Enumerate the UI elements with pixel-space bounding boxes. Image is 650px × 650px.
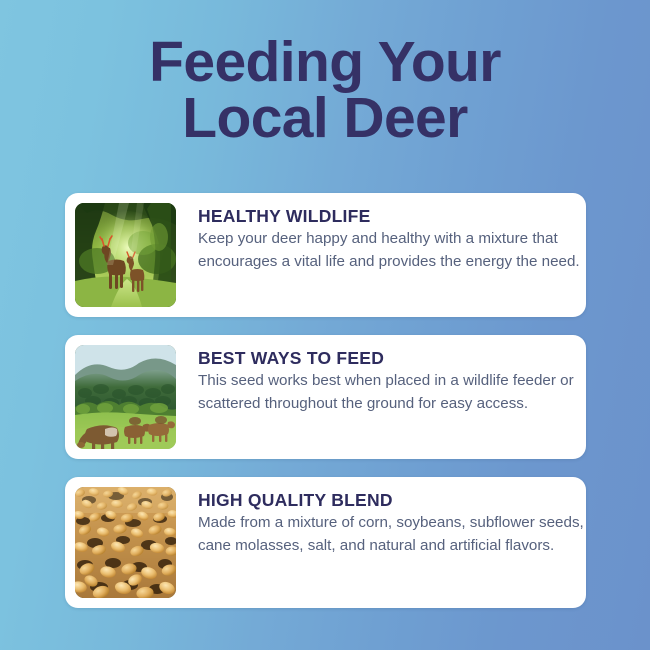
feature-card: HIGH QUALITY BLEND Made from a mixture o…: [65, 477, 586, 608]
page-title-line-1: Feeding Your: [45, 34, 605, 90]
feature-card-body: HIGH QUALITY BLEND Made from a mixture o…: [176, 487, 596, 557]
feature-card: BEST WAYS TO FEED This seed works best w…: [65, 335, 586, 459]
feature-card-heading: HIGH QUALITY BLEND: [198, 490, 596, 510]
page-title-line-2: Local Deer: [45, 90, 605, 146]
grain-seed-blend-photo: [75, 487, 176, 598]
deer-in-sunlit-forest-photo: [75, 203, 176, 307]
poster-root: Feeding Your Local Deer: [0, 0, 650, 650]
feature-card-body: HEALTHY WILDLIFE Keep your deer happy an…: [176, 203, 596, 273]
feature-card-list: HEALTHY WILDLIFE Keep your deer happy an…: [65, 193, 586, 608]
deer-grazing-meadow-photo: [75, 345, 176, 449]
feature-card-heading: BEST WAYS TO FEED: [198, 348, 596, 368]
feature-card-text: Keep your deer happy and healthy with a …: [198, 227, 606, 273]
feature-card-text: This seed works best when placed in a wi…: [198, 369, 598, 415]
feature-card: HEALTHY WILDLIFE Keep your deer happy an…: [65, 193, 586, 317]
feature-card-text: Made from a mixture of corn, soybeans, s…: [198, 511, 598, 557]
feature-card-body: BEST WAYS TO FEED This seed works best w…: [176, 345, 596, 415]
page-title: Feeding Your Local Deer: [45, 0, 605, 147]
feature-card-heading: HEALTHY WILDLIFE: [198, 206, 596, 226]
